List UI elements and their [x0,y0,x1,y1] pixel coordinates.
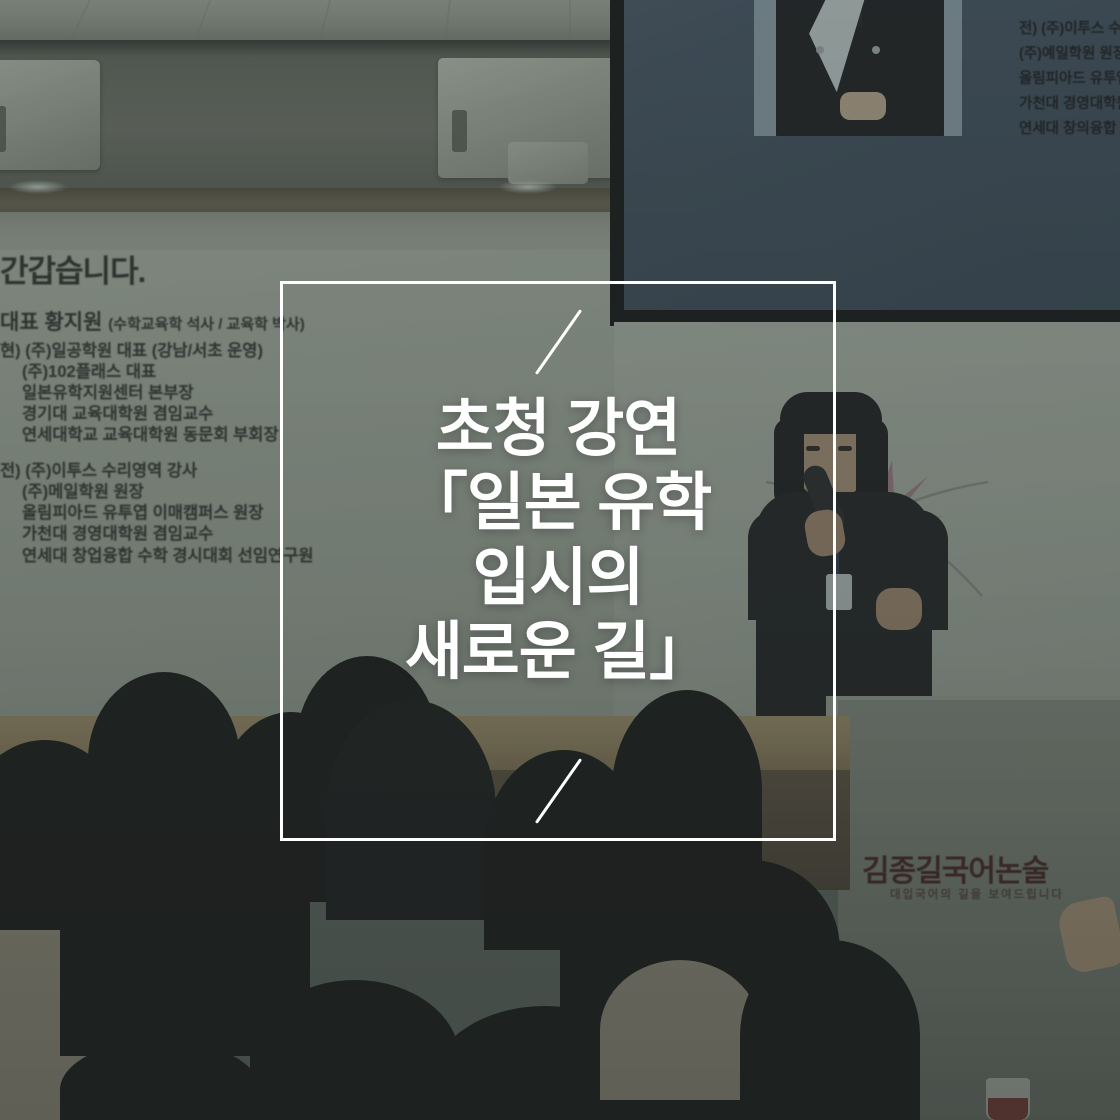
title-line-2: 「일본 유학 [280,466,836,540]
title-line-1: 초청 강연 [280,392,836,466]
title-line-3: 입시의 [280,541,836,615]
lecture-promo-card: 간갑습니다. 대표 황지원 (수학교육학 석사 / 교육학 박사) 현) (주)… [0,0,1120,1120]
title-line-4: 새로운 길」 [280,615,836,689]
headline-title: 초청 강연 「일본 유학 입시의 새로운 길」 [280,392,836,689]
